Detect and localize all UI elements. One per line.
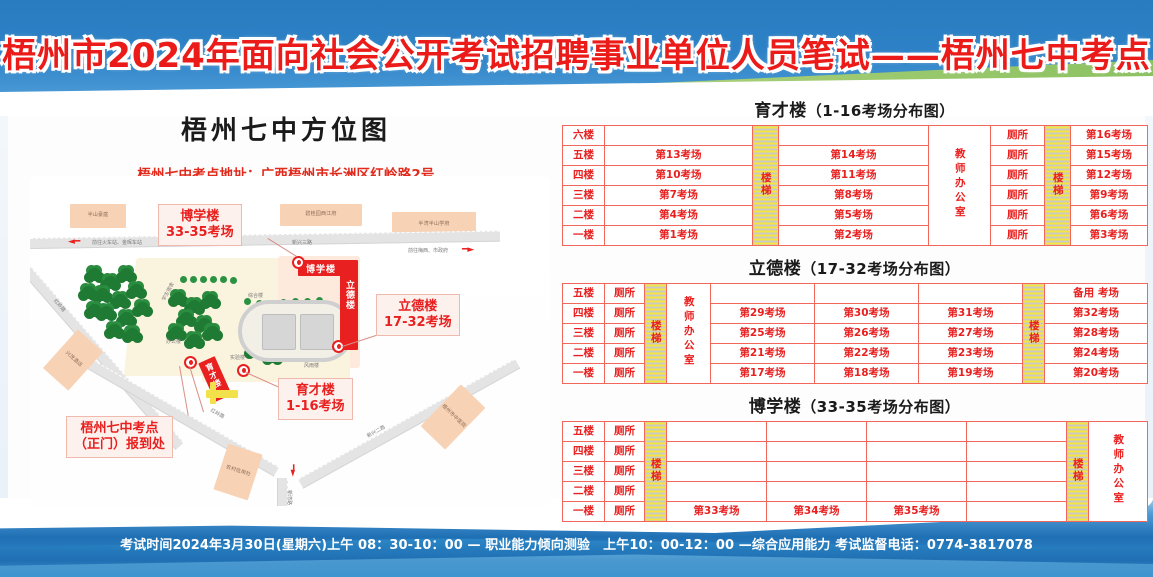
cell-room: 第28考场 xyxy=(1045,324,1148,344)
cell-floor: 二楼 xyxy=(563,206,605,226)
cell-room: 第1考场 xyxy=(605,226,753,246)
cell-room xyxy=(815,284,919,304)
cell-room: 第19考场 xyxy=(919,364,1023,384)
cell-office: 教师办公室 xyxy=(929,126,991,246)
map-callout-yucai[interactable]: 育才楼 1-16考场 xyxy=(278,378,353,420)
map-building-banshan-haoting: 半山豪庭 xyxy=(70,204,126,228)
map-label-windrain: 风雨楼 xyxy=(304,362,319,369)
cell-wc: 厕所 xyxy=(991,166,1045,186)
map-callout-gate[interactable]: 梧州七中考点 （正门）报到处 xyxy=(66,416,173,458)
cell-floor: 四楼 xyxy=(563,166,605,186)
map-arrow-down-icon: ━► xyxy=(288,464,297,476)
cell-room: 第11考场 xyxy=(779,166,929,186)
cell-wc: 厕所 xyxy=(605,344,645,364)
office-label: 教师办公室 xyxy=(1113,434,1124,507)
map-arrow-label-left: 前往火车站、金晖车站 xyxy=(92,239,142,246)
table-title-boxue-sub: （33-35考场分布图） xyxy=(801,398,960,416)
cell-office: 教师办公室 xyxy=(667,284,711,384)
cell-room: 第33考场 xyxy=(667,502,767,522)
cell-wc: 厕所 xyxy=(605,502,645,522)
map-callout-boxue[interactable]: 博学楼 33-35考场 xyxy=(158,204,242,246)
cell-wc: 厕所 xyxy=(991,186,1045,206)
cell-room xyxy=(667,482,767,502)
cell-room: 第16考场 xyxy=(1071,126,1148,146)
cell-room xyxy=(919,284,1023,304)
cell-room: 第13考场 xyxy=(605,146,753,166)
cell-room xyxy=(767,482,867,502)
map-court-2 xyxy=(300,314,334,350)
cell-wc: 厕所 xyxy=(605,304,645,324)
cell-wc: 厕所 xyxy=(605,442,645,462)
cell-floor: 一楼 xyxy=(563,502,605,522)
cell-room: 第22考场 xyxy=(815,344,919,364)
cell-room: 第25考场 xyxy=(711,324,815,344)
cell-room: 第17考场 xyxy=(711,364,815,384)
map-canvas[interactable]: 半山豪庭 碧桂园西江府 半湾半山学府 新兴三路 ◄━ 前往火车站、金晖车站 ━►… xyxy=(30,176,550,506)
table-title-boxue: 博学楼（33-35考场分布图） xyxy=(562,392,1147,417)
cell-room: 第26考场 xyxy=(815,324,919,344)
cell-room: 第34考场 xyxy=(767,502,867,522)
cell-room: 第20考场 xyxy=(1045,364,1148,384)
map-panel: 梧州七中方位图 梧州七中考点地址：广西梧州市长洲区红岭路2号 半山豪庭 碧桂园西… xyxy=(12,96,560,516)
cell-room xyxy=(667,442,767,462)
map-label-complex: 综合楼 xyxy=(248,292,263,299)
map-callout-lide-line1: 立德楼 xyxy=(384,299,452,315)
office-label: 教师办公室 xyxy=(954,148,965,221)
cell-stairs-right: 楼梯 xyxy=(1023,284,1045,384)
cell-stairs-left: 楼梯 xyxy=(753,126,779,246)
cell-floor: 五楼 xyxy=(563,284,605,304)
cell-room: 第21考场 xyxy=(711,344,815,364)
cell-floor: 三楼 xyxy=(563,324,605,344)
cell-room: 第32考场 xyxy=(1045,304,1148,324)
cell-stairs-right: 楼梯 xyxy=(1045,126,1071,246)
cell-office: 教师办公室 xyxy=(1089,422,1148,522)
cell-floor: 五楼 xyxy=(563,146,605,166)
cell-room xyxy=(967,482,1067,502)
stairs-label: 楼梯 xyxy=(1052,172,1063,197)
cell-room xyxy=(967,422,1067,442)
map-red-building-label-lide: 立德楼 xyxy=(343,280,356,310)
map-gate-post xyxy=(210,382,216,404)
map-red-building-label-boxue: 博学楼 xyxy=(306,262,336,275)
cell-spare: 备用 考场 xyxy=(1045,284,1148,304)
cell-wc: 厕所 xyxy=(991,226,1045,246)
map-road-label-xinwan: 新湾路 xyxy=(286,490,293,505)
cell-room: 第7考场 xyxy=(605,186,753,206)
cell-room xyxy=(767,422,867,442)
cell-room xyxy=(667,422,767,442)
map-pin-yucai[interactable] xyxy=(237,364,250,377)
cell-wc: 厕所 xyxy=(605,462,645,482)
map-callout-boxue-line1: 博学楼 xyxy=(166,209,234,225)
cell-room: 第8考场 xyxy=(779,186,929,206)
cell-room: 第15考场 xyxy=(1071,146,1148,166)
map-building-biguiyuan: 碧桂园西江府 xyxy=(280,204,362,226)
cell-stairs-right: 楼梯 xyxy=(1067,422,1089,522)
cell-room: 第18考场 xyxy=(815,364,919,384)
table-title-yucai-main: 育才楼 xyxy=(754,101,807,121)
table-title-lide-main: 立德楼 xyxy=(749,259,802,279)
map-arrow-left-icon: ◄━ xyxy=(68,238,80,247)
table-title-lide: 立德楼（17-32考场分布图） xyxy=(562,254,1147,279)
cell-room xyxy=(867,462,967,482)
cell-room xyxy=(779,126,929,146)
cell-room xyxy=(967,442,1067,462)
cell-room xyxy=(767,442,867,462)
cell-room: 第5考场 xyxy=(779,206,929,226)
cell-wc: 厕所 xyxy=(605,482,645,502)
table-row: 五楼 厕所 楼梯 教师办公室 楼梯 备用 考场 xyxy=(563,284,1148,304)
cell-wc: 厕所 xyxy=(991,206,1045,226)
stairs-label: 楼梯 xyxy=(1072,458,1083,483)
cell-room: 第27考场 xyxy=(919,324,1023,344)
map-label-lab: 实验楼 xyxy=(230,354,245,361)
cell-floor: 一楼 xyxy=(563,226,605,246)
cell-wc: 厕所 xyxy=(605,324,645,344)
cell-room: 第3考场 xyxy=(1071,226,1148,246)
map-label-office: 办公楼 xyxy=(166,338,181,345)
table-lide[interactable]: 五楼 厕所 楼梯 教师办公室 楼梯 备用 考场 四楼 厕所 第29考场 第30考… xyxy=(562,283,1148,384)
cell-room xyxy=(967,462,1067,482)
map-arrow-right-icon: ━► xyxy=(462,246,474,255)
cell-floor: 三楼 xyxy=(563,186,605,206)
cell-room: 第23考场 xyxy=(919,344,1023,364)
stairs-label: 楼梯 xyxy=(650,320,661,345)
cell-room xyxy=(711,284,815,304)
table-title-lide-sub: （17-32考场分布图） xyxy=(801,260,960,278)
title-banner: 梧州市2024年面向社会公开考试招聘事业单位人员笔试——梧州七中考点 xyxy=(0,24,1153,80)
cell-wc: 厕所 xyxy=(605,284,645,304)
map-callout-lide[interactable]: 立德楼 17-32考场 xyxy=(376,294,460,336)
poster-root: 梧州市2024年面向社会公开考试招聘事业单位人员笔试——梧州七中考点 梧州七中方… xyxy=(0,0,1153,577)
page-title: 梧州市2024年面向社会公开考试招聘事业单位人员笔试——梧州七中考点 xyxy=(2,28,1151,77)
map-building-hospital: 梧州市中医院 xyxy=(421,384,486,449)
map-road-label-hongling-2: 红岭路 xyxy=(209,407,226,421)
cell-floor: 二楼 xyxy=(563,482,605,502)
stairs-label: 楼梯 xyxy=(650,458,661,483)
table-title-yucai-sub: （1-16考场分布图） xyxy=(807,102,955,120)
cell-floor: 五楼 xyxy=(563,422,605,442)
cell-room: 第35考场 xyxy=(867,502,967,522)
table-title-yucai: 育才楼（1-16考场分布图） xyxy=(562,96,1147,121)
cell-floor: 二楼 xyxy=(563,344,605,364)
stairs-label: 楼梯 xyxy=(760,172,771,197)
cell-room xyxy=(605,126,753,146)
cell-room xyxy=(867,482,967,502)
cell-wc: 厕所 xyxy=(605,422,645,442)
cell-wc: 厕所 xyxy=(605,364,645,384)
office-label: 教师办公室 xyxy=(683,296,694,369)
map-arrow-label-right: 前往梅西、市政府 xyxy=(408,247,448,254)
cell-room: 第30考场 xyxy=(815,304,919,324)
cell-room: 第10考场 xyxy=(605,166,753,186)
cell-room xyxy=(767,462,867,482)
map-callout-boxue-line2: 33-35考场 xyxy=(166,225,234,241)
tables-panel: 育才楼（1-16考场分布图） 六楼 楼梯 教师办公室 厕所 楼梯 第16考场 xyxy=(562,92,1147,522)
map-callout-yucai-line1: 育才楼 xyxy=(286,383,345,399)
map-title: 梧州七中方位图 xyxy=(12,110,560,147)
cell-room: 第6考场 xyxy=(1071,206,1148,226)
cell-floor: 三楼 xyxy=(563,462,605,482)
map-building-credit-union: 农村信用社 xyxy=(213,444,262,501)
table-row: 六楼 楼梯 教师办公室 厕所 楼梯 第16考场 xyxy=(563,126,1148,146)
cell-floor: 一楼 xyxy=(563,364,605,384)
cell-floor: 四楼 xyxy=(563,442,605,462)
map-callout-lide-line2: 17-32考场 xyxy=(384,315,452,331)
cell-room: 第4考场 xyxy=(605,206,753,226)
cell-room: 第24考场 xyxy=(1045,344,1148,364)
cell-wc: 厕所 xyxy=(991,146,1045,166)
cell-floor: 六楼 xyxy=(563,126,605,146)
cell-stairs-left: 楼梯 xyxy=(645,422,667,522)
footer-text: 考试时间2024年3月30日(星期六)上午 08：30-10：00 — 职业能力… xyxy=(0,534,1153,553)
cell-room: 第14考场 xyxy=(779,146,929,166)
cell-room: 第9考场 xyxy=(1071,186,1148,206)
cell-room: 第31考场 xyxy=(919,304,1023,324)
map-callout-gate-line1: 梧州七中考点 xyxy=(74,421,165,437)
cell-stairs-left: 楼梯 xyxy=(645,284,667,384)
cell-room: 第2考场 xyxy=(779,226,929,246)
cell-room: 第29考场 xyxy=(711,304,815,324)
cell-room xyxy=(967,502,1067,522)
map-road-label-xinxing-3: 新兴三路 xyxy=(292,239,312,246)
cell-room xyxy=(667,462,767,482)
table-yucai[interactable]: 六楼 楼梯 教师办公室 厕所 楼梯 第16考场 五楼 第13考场 第14考场 厕… xyxy=(562,125,1148,246)
table-title-boxue-main: 博学楼 xyxy=(749,397,802,417)
map-callout-gate-line2: （正门）报到处 xyxy=(74,437,165,453)
cell-wc: 厕所 xyxy=(991,126,1045,146)
table-row: 五楼 厕所 楼梯 楼梯 教师办公室 xyxy=(563,422,1148,442)
stairs-label: 楼梯 xyxy=(1028,320,1039,345)
map-callout-yucai-line2: 1-16考场 xyxy=(286,399,345,415)
cell-room: 第12考场 xyxy=(1071,166,1148,186)
table-boxue[interactable]: 五楼 厕所 楼梯 楼梯 教师办公室 四楼 厕所 xyxy=(562,421,1148,522)
cell-room xyxy=(867,422,967,442)
cell-room xyxy=(867,442,967,462)
map-court-1 xyxy=(262,314,296,350)
map-pin-boxue[interactable] xyxy=(292,256,305,269)
cell-floor: 四楼 xyxy=(563,304,605,324)
